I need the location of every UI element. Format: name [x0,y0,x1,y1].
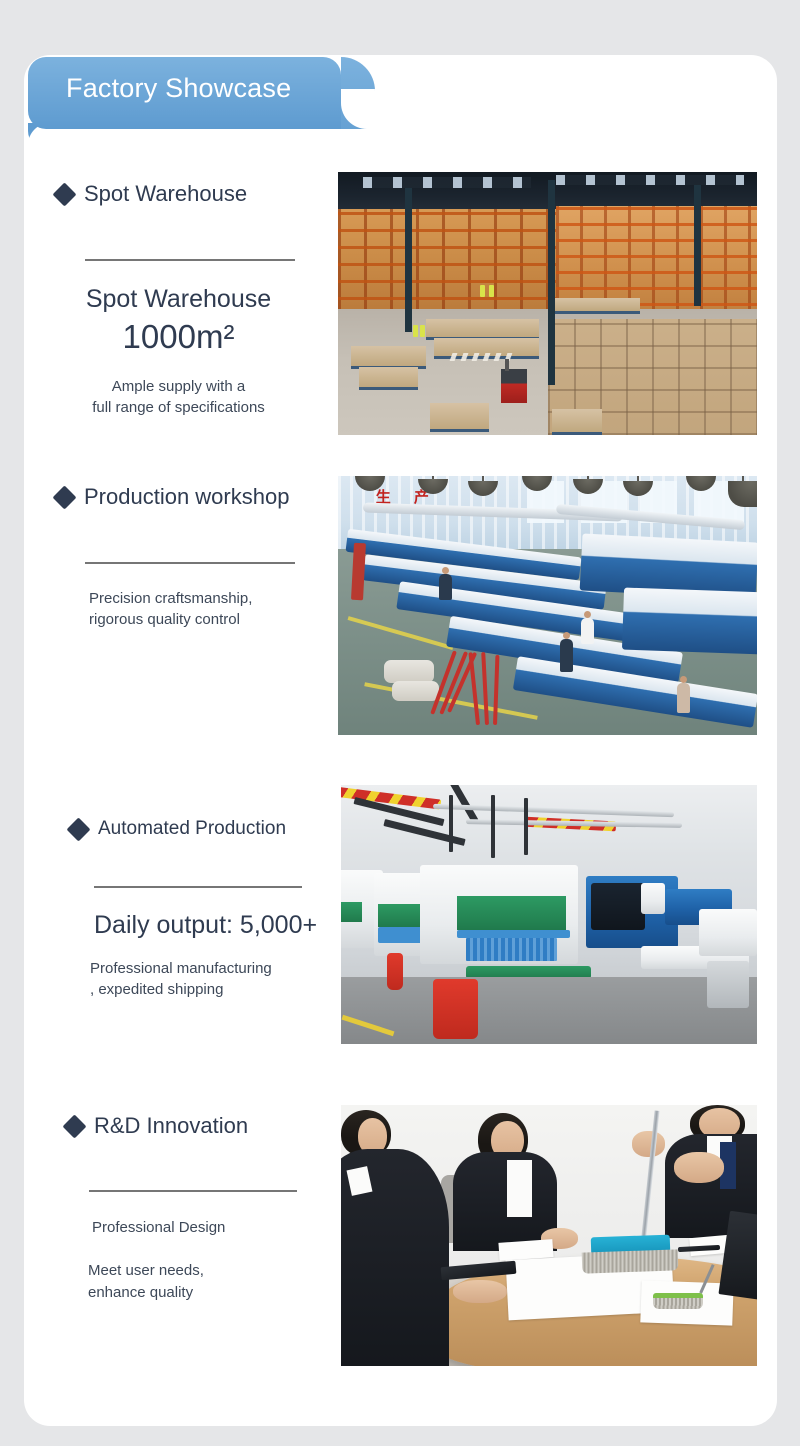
section-production-workshop-text: Production workshop Precision craftsmans… [56,484,316,631]
page-title: Factory Showcase [66,73,291,104]
section-divider [94,886,302,888]
header-ribbon: Factory Showcase [28,57,341,129]
section-heading: Production workshop [84,484,289,510]
section-divider [89,1190,297,1192]
factory-showcase-page: Factory Showcase Spot Warehouse Spot War… [0,0,800,1446]
section-description-line-1: Meet user needs, [88,1260,336,1281]
section-spot-warehouse-text: Spot Warehouse Spot Warehouse 1000m² Amp… [56,181,316,418]
section-metric: 1000m² [56,319,301,355]
diamond-icon [52,182,76,206]
section-headline: Daily output: 5,000+ [94,911,335,941]
section-description-line-1: Professional manufacturing [90,958,335,979]
section-heading: Spot Warehouse [84,181,247,207]
section-description-line-2: full range of specifications [56,397,301,418]
section-description-line-1: Precision craftsmanship, [89,588,316,609]
section-headline: Professional Design [92,1217,336,1238]
section-heading-row: Production workshop [56,484,316,510]
diamond-icon [52,485,76,509]
section-description-line-1: Ample supply with a [56,376,301,397]
section-automated-production-text: Automated Production Daily output: 5,000… [70,818,335,1000]
diamond-icon [62,1114,86,1138]
section-divider [85,562,295,564]
section-description-line-2: enhance quality [88,1282,336,1303]
section-headline: Spot Warehouse [56,285,301,315]
section-heading-row: Spot Warehouse [56,181,316,207]
section-description-line-2: , expedited shipping [90,979,335,1000]
section-heading-row: R&D Innovation [66,1113,336,1139]
section-heading-row: Automated Production [70,818,335,840]
section-heading: R&D Innovation [94,1113,248,1139]
rd-innovation-photo [341,1105,757,1366]
warehouse-photo [338,172,757,435]
automated-production-photo [341,785,757,1044]
section-description-line-2: rigorous quality control [89,609,316,630]
section-rd-innovation-text: R&D Innovation Professional Design Meet … [66,1113,336,1303]
diamond-icon [66,817,90,841]
workshop-photo: 生 产 [338,476,757,735]
section-heading: Automated Production [98,818,286,840]
section-divider [85,259,295,261]
